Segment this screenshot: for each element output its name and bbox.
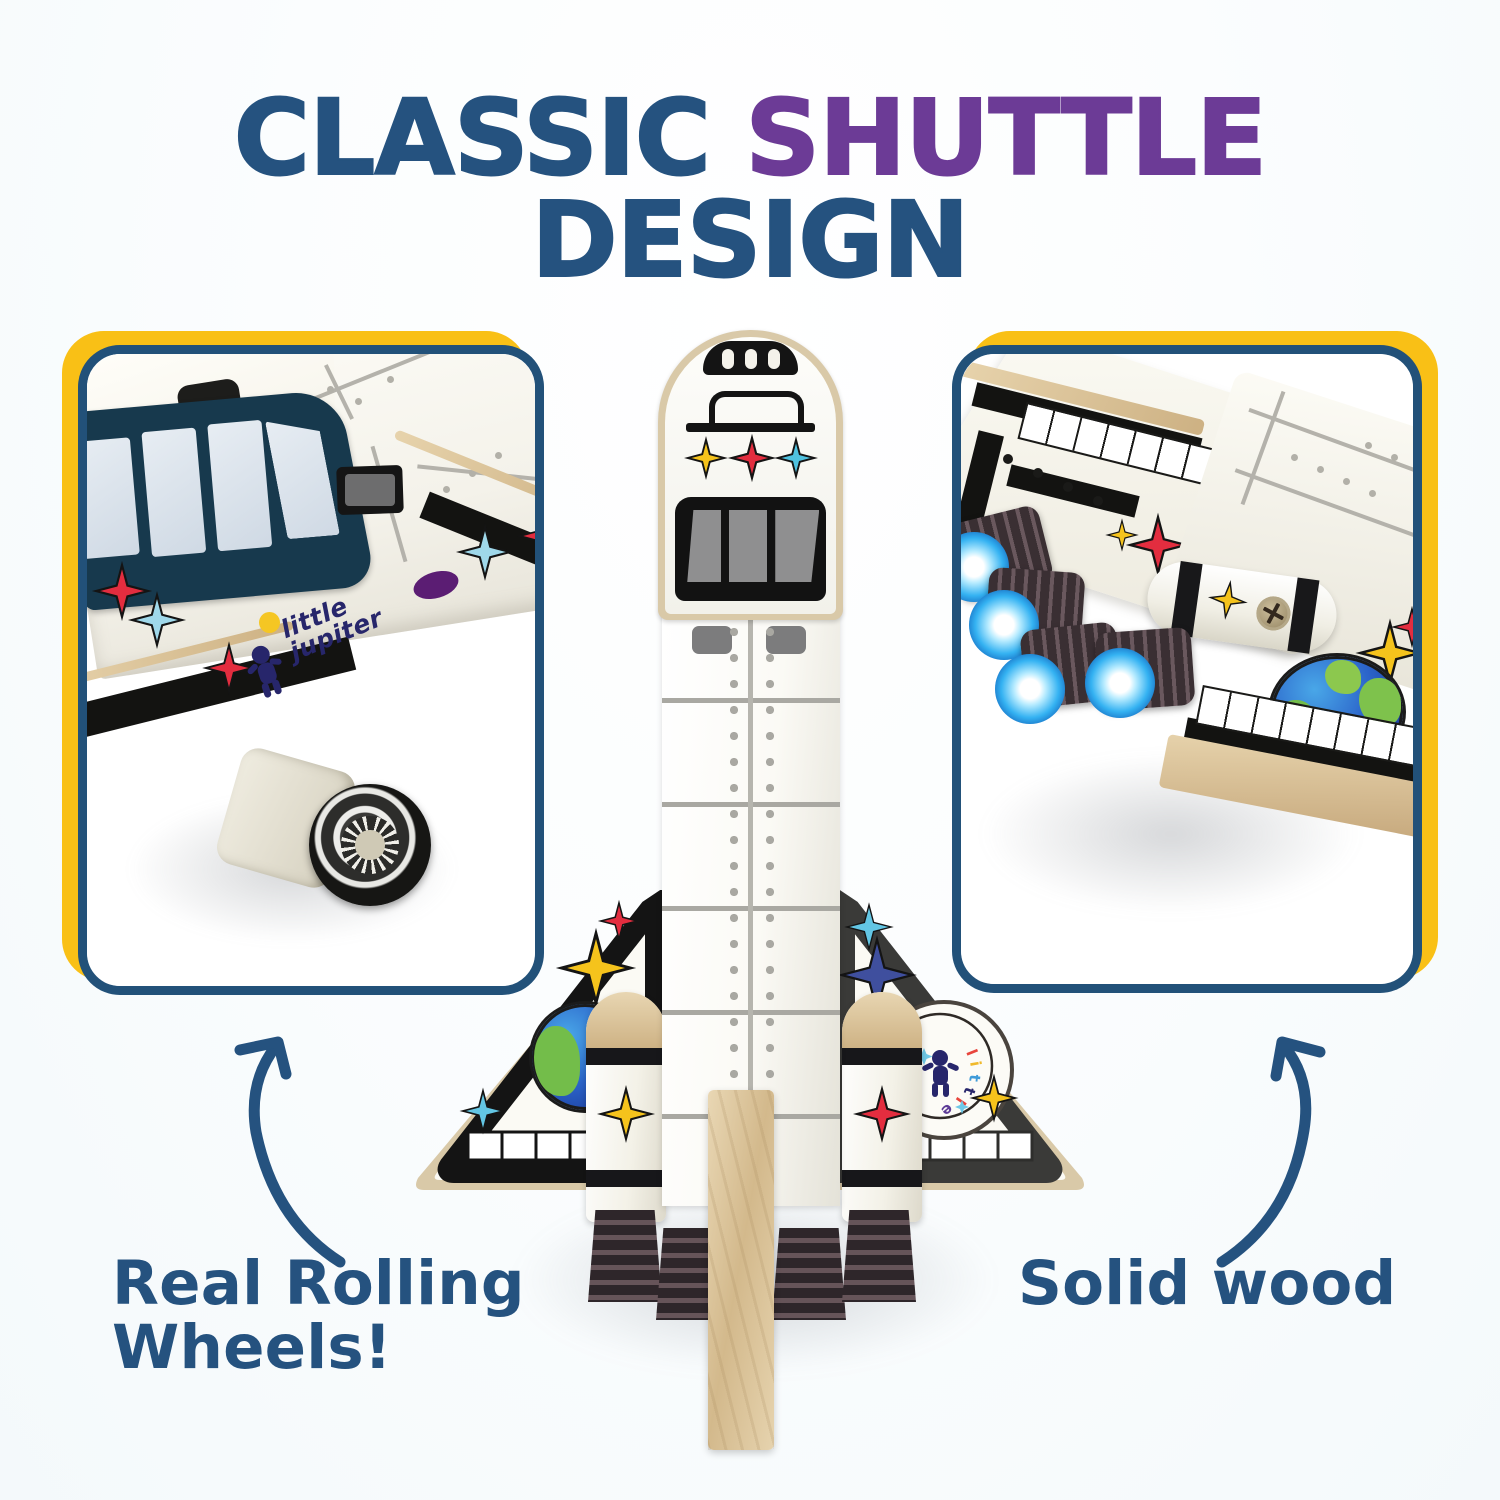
booster-left xyxy=(586,992,666,1222)
cockpit-windshield xyxy=(675,497,825,601)
wooden-display-stand xyxy=(708,1090,774,1450)
hatch-light xyxy=(768,349,780,369)
nose-face-panel xyxy=(665,337,836,614)
star-cyan xyxy=(131,594,183,646)
right-caption-line-1: Solid wood xyxy=(1018,1252,1418,1316)
engine-nozzle-3 xyxy=(772,1228,846,1320)
star-cyan xyxy=(462,1090,504,1132)
cockpit-pane xyxy=(87,437,140,559)
right-callout-caption: Solid wood xyxy=(1018,1252,1418,1316)
globe-landmass xyxy=(534,1026,580,1096)
right-callout-arrow xyxy=(1198,1010,1398,1280)
booster-band xyxy=(586,1170,666,1187)
rivet xyxy=(1291,454,1298,461)
rivet xyxy=(1391,454,1398,461)
shuttle-nose-cone xyxy=(658,330,843,620)
marketing-image-canvas: CLASSIC SHUTTLE DESIGN xyxy=(0,0,1500,1500)
star-red xyxy=(731,437,773,479)
hatch-light xyxy=(722,349,734,369)
star-yellow xyxy=(687,439,725,477)
brand-sun-dot xyxy=(259,612,280,633)
booster-band xyxy=(1287,577,1319,653)
cockpit-pane xyxy=(141,428,206,558)
left-caption-line-2: Wheels! xyxy=(112,1316,532,1380)
windshield-pane xyxy=(687,510,721,582)
rivet xyxy=(327,386,334,393)
side-window-glass xyxy=(345,474,395,506)
headline-line-1: CLASSIC SHUTTLE xyxy=(0,88,1500,190)
rivet xyxy=(387,376,394,383)
windshield-pane xyxy=(775,510,819,582)
nose-crossbar xyxy=(686,423,816,432)
booster-band xyxy=(842,1170,922,1187)
rivet xyxy=(1369,490,1376,497)
engine-nozzle-4 xyxy=(842,1210,916,1302)
svg-text:i: i xyxy=(966,1060,985,1068)
rivet xyxy=(1317,466,1324,473)
windshield-pane xyxy=(729,510,767,582)
left-callout-arrow xyxy=(212,1010,412,1280)
left-caption-line-1: Real Rolling xyxy=(112,1252,532,1316)
svg-text:l: l xyxy=(962,1047,981,1059)
rivet xyxy=(355,398,362,405)
nose-star-row xyxy=(665,437,836,493)
rivet xyxy=(1365,442,1372,449)
hatch-light xyxy=(745,349,757,369)
star-red xyxy=(856,1088,908,1140)
star-yellow xyxy=(1208,580,1249,621)
cockpit-pane xyxy=(207,420,272,552)
booster-band xyxy=(842,1048,922,1065)
assembly-screw xyxy=(1254,594,1292,632)
star-cyan xyxy=(777,439,815,477)
rivet xyxy=(1343,478,1350,485)
star-yellow xyxy=(600,1088,652,1140)
engine-nozzle-1 xyxy=(588,1210,662,1302)
left-callout-caption: Real Rolling Wheels! xyxy=(112,1252,532,1380)
nose-top-hatch xyxy=(703,341,799,375)
booster-band xyxy=(1171,561,1203,637)
globe-landmass xyxy=(1325,660,1361,694)
booster-band xyxy=(586,1048,666,1065)
star-yellow xyxy=(972,1076,1016,1120)
headline-line-2: DESIGN xyxy=(0,190,1500,292)
booster-right xyxy=(842,992,922,1222)
page-title: CLASSIC SHUTTLE DESIGN xyxy=(0,88,1500,292)
cockpit-pane xyxy=(265,417,340,539)
